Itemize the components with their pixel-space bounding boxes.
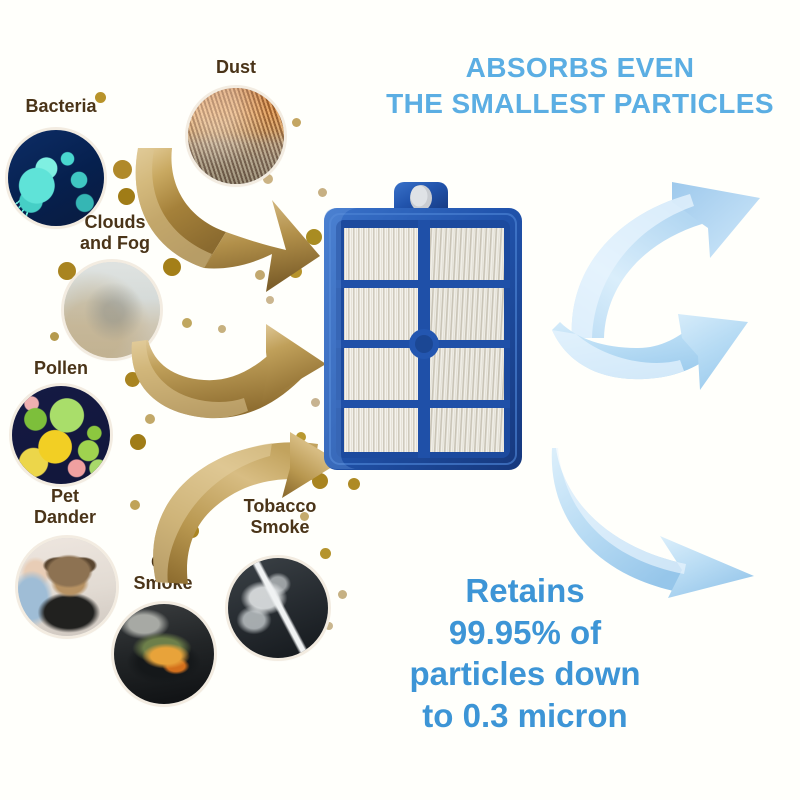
- source-label-dander: Pet Dander: [10, 486, 120, 527]
- particle-dot: [50, 332, 59, 341]
- headline-line-1: ABSORBS EVEN: [380, 50, 780, 86]
- particle-dot: [130, 500, 140, 510]
- particle-dot: [292, 118, 301, 127]
- particle-dot: [348, 478, 360, 490]
- source-image-dander: [18, 538, 116, 636]
- source-label-dust: Dust: [186, 57, 286, 78]
- source-label-pollen: Pollen: [8, 358, 114, 379]
- dirty-air-arrow-bottom: [140, 432, 340, 592]
- headline-line-2: THE SMALLEST PARTICLES: [380, 86, 780, 122]
- claim-line-4: to 0.3 micron: [360, 695, 690, 737]
- source-label-bacteria: Bacteria: [6, 96, 116, 117]
- retention-claim: Retains 99.95% of particles down to 0.3 …: [360, 570, 690, 736]
- source-image-oil-smoke: [114, 604, 214, 704]
- claim-line-3: particles down: [360, 653, 690, 695]
- headline: ABSORBS EVEN THE SMALLEST PARTICLES: [380, 50, 780, 123]
- hepa-filter-cartridge: [318, 178, 528, 478]
- clean-air-arrow-middle: [548, 312, 758, 432]
- claim-line-2: 99.95% of: [360, 612, 690, 654]
- source-image-pollen: [12, 386, 110, 484]
- product-infographic: ABSORBS EVEN THE SMALLEST PARTICLES: [0, 0, 800, 800]
- dirty-air-arrow-middle: [126, 318, 326, 438]
- dirty-air-arrow-top: [120, 128, 330, 303]
- claim-line-1: Retains: [360, 570, 690, 612]
